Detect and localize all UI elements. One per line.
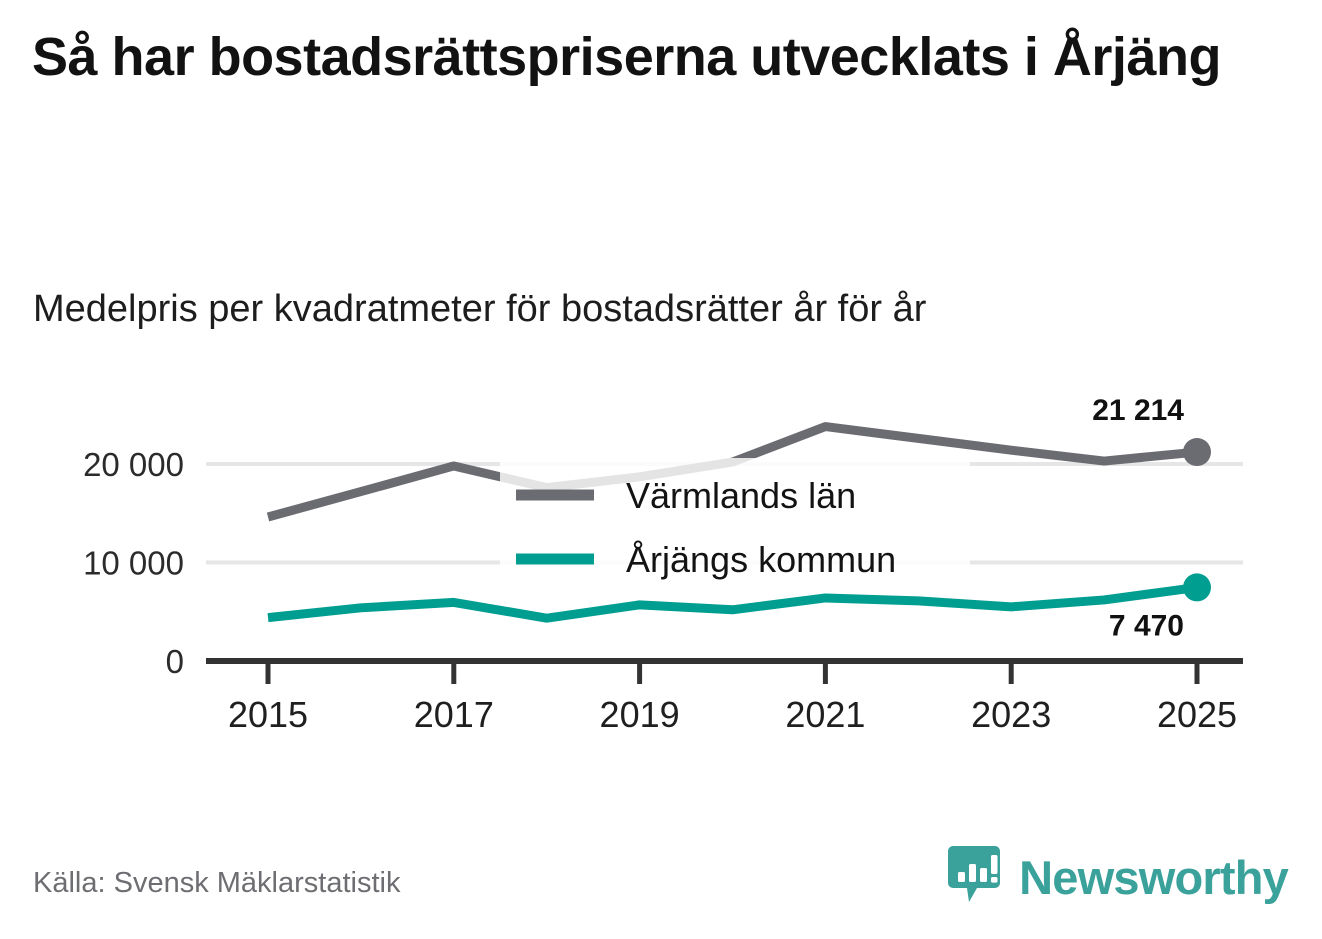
x-axis-tick-labels: 201520172019202120232025 — [228, 694, 1237, 735]
x-axis-tick-label: 2017 — [414, 694, 494, 735]
x-axis — [206, 661, 1243, 684]
newsworthy-logo: Newsworthy — [947, 843, 1288, 911]
legend-label: Värmlands län — [626, 475, 856, 516]
series-value-labels: 21 2147 470 — [1092, 394, 1211, 642]
chart-subtitle: Medelpris per kvadratmeter för bostadsrä… — [33, 287, 1283, 333]
legend-label: Årjängs kommun — [626, 539, 896, 580]
y-axis-tick-label: 0 — [166, 643, 184, 680]
chart-container: 010 00020 000 Värmlands länÅrjängs kommu… — [0, 380, 1322, 740]
line-chart: 010 00020 000 Värmlands länÅrjängs kommu… — [0, 380, 1322, 740]
y-axis-tick-label: 10 000 — [83, 545, 184, 582]
series-line — [268, 587, 1197, 618]
source-note: Källa: Svensk Mäklarstatistik — [33, 867, 400, 900]
y-axis-tick-label: 20 000 — [83, 446, 184, 483]
x-axis-tick-label: 2021 — [785, 694, 865, 735]
page-title: Så har bostadsrättspriserna utvecklats i… — [32, 26, 1262, 89]
speech-bubble-bar-chart-icon — [947, 845, 1005, 909]
series-end-marker — [1183, 573, 1211, 601]
series-end-marker — [1183, 438, 1211, 466]
series-value-label: 21 214 — [1092, 394, 1184, 427]
y-axis-tick-labels: 010 00020 000 — [83, 446, 184, 680]
chart-page: Så har bostadsrättspriserna utvecklats i… — [0, 0, 1322, 939]
brand-name: Newsworthy — [1019, 854, 1288, 901]
chart-legend: Värmlands länÅrjängs kommun — [500, 458, 970, 590]
x-axis-tick-label: 2025 — [1157, 694, 1237, 735]
x-axis-tick-label: 2023 — [971, 694, 1051, 735]
x-axis-tick-label: 2015 — [228, 694, 308, 735]
series-value-label: 7 470 — [1109, 609, 1184, 642]
x-axis-tick-label: 2019 — [600, 694, 680, 735]
